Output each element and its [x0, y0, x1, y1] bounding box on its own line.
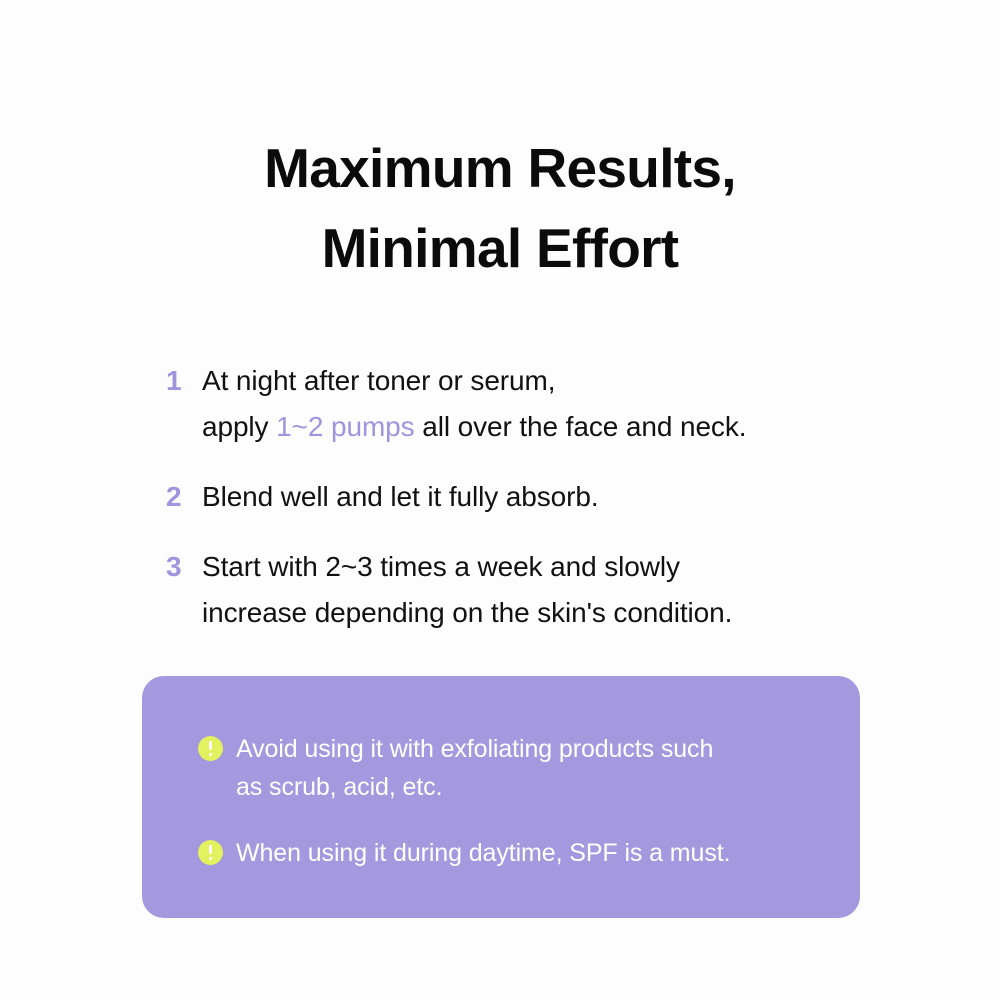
warning-callout-box: Avoid using it with exfoliating products… — [142, 676, 860, 918]
usage-steps-list: 1 At night after toner or serum, apply 1… — [166, 358, 886, 636]
step-text-segment: apply — [202, 411, 276, 442]
step-text-segment: all over the face and neck. — [415, 411, 747, 442]
warning-text-line-2: as scrub, acid, etc. — [236, 768, 808, 806]
list-item: 3 Start with 2~3 times a week and slowly… — [166, 544, 886, 636]
list-item: Avoid using it with exfoliating products… — [198, 730, 808, 806]
step-number: 3 — [166, 544, 202, 590]
step-text: Start with 2~3 times a week and slowly i… — [202, 544, 886, 636]
list-item: 2 Blend well and let it fully absorb. — [166, 474, 886, 520]
warning-text-line-1: When using it during daytime, SPF is a m… — [236, 834, 808, 872]
product-usage-infographic: Maximum Results, Minimal Effort 1 At nig… — [0, 0, 1000, 1000]
page-title: Maximum Results, Minimal Effort — [0, 128, 1000, 288]
warning-text: When using it during daytime, SPF is a m… — [236, 834, 808, 872]
step-text-line-1: At night after toner or serum, — [202, 358, 886, 404]
warning-exclamation-icon — [198, 840, 223, 865]
step-text: At night after toner or serum, apply 1~2… — [202, 358, 886, 450]
step-text-line-1: Start with 2~3 times a week and slowly — [202, 544, 886, 590]
page-title-line-1: Maximum Results, — [0, 128, 1000, 208]
step-highlight-dose: 1~2 pumps — [276, 411, 414, 442]
step-text: Blend well and let it fully absorb. — [202, 474, 886, 520]
step-text-line-2: apply 1~2 pumps all over the face and ne… — [202, 404, 886, 450]
warning-exclamation-icon — [198, 736, 223, 761]
warning-text: Avoid using it with exfoliating products… — [236, 730, 808, 806]
list-item: When using it during daytime, SPF is a m… — [198, 834, 808, 872]
step-number: 2 — [166, 474, 202, 520]
warning-text-line-1: Avoid using it with exfoliating products… — [236, 730, 808, 768]
list-item: 1 At night after toner or serum, apply 1… — [166, 358, 886, 450]
page-title-line-2: Minimal Effort — [0, 208, 1000, 288]
step-text-line-2: increase depending on the skin's conditi… — [202, 590, 886, 636]
step-text-line-1: Blend well and let it fully absorb. — [202, 474, 886, 520]
step-number: 1 — [166, 358, 202, 404]
